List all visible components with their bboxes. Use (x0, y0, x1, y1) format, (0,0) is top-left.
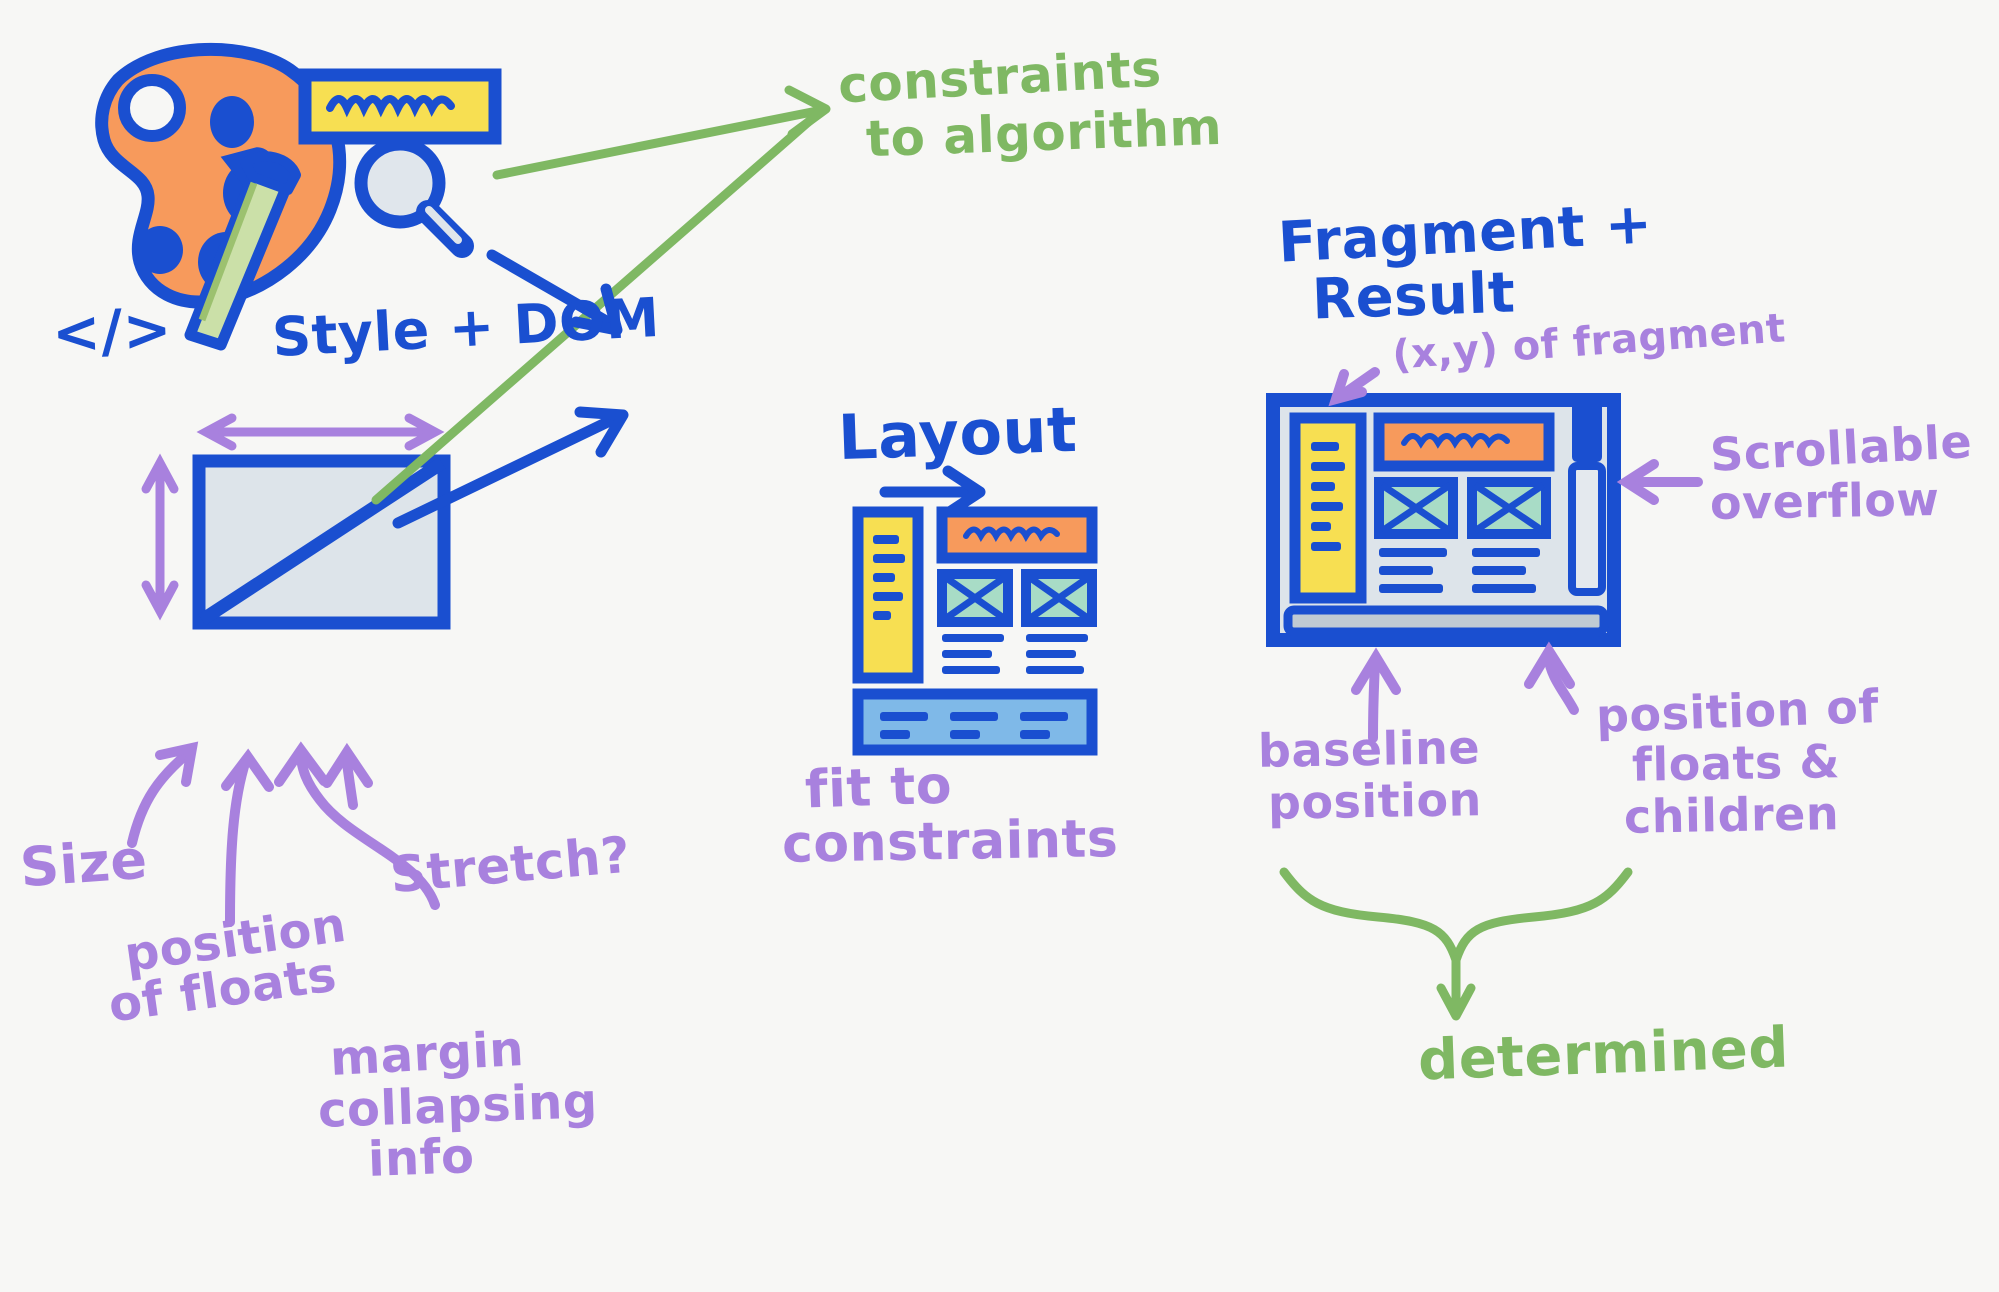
magnifying-glass-icon (361, 144, 462, 246)
floats-children-arrow (1529, 651, 1574, 710)
determined-label: determined (1417, 1020, 1790, 1090)
baseline-position-line2: position (1268, 776, 1483, 827)
fit-to-constraints-line2: constraints (782, 813, 1119, 872)
browser-mockup-result-icon (1273, 396, 1614, 640)
diagram-canvas: </> Style + DOM constraints to algorithm… (0, 0, 1999, 1292)
scrollable-overflow-line1: Scrollable (1709, 418, 1973, 479)
margin-collapsing-line1: margin (329, 1025, 525, 1084)
fit-to-constraints-line1: fit to (804, 759, 953, 817)
layout-box-icon (199, 461, 444, 623)
width-measure-arrow (206, 418, 435, 446)
code-icon-label: </> (51, 300, 173, 363)
floats-children-line2: floats & (1632, 738, 1841, 789)
height-measure-arrow (146, 463, 174, 611)
browser-mockup-layout-icon (858, 512, 1092, 750)
margin-collapsing-line3: info (367, 1132, 475, 1185)
stretch-arrow (327, 752, 368, 805)
floats-children-line1: position of (1595, 683, 1879, 740)
yellow-text-block-icon (305, 75, 495, 138)
constraints-label-line2: to algorithm (865, 102, 1223, 165)
determined-brace (1284, 872, 1628, 1016)
scrollable-overflow-line2: overflow (1710, 476, 1940, 527)
position-of-floats-arrow (226, 757, 269, 922)
scrollable-overflow-arrow (1626, 464, 1698, 500)
floats-children-line3: children (1624, 790, 1840, 841)
layout-label: Layout (837, 398, 1078, 470)
margin-collapsing-line2: collapsing (317, 1077, 598, 1136)
size-label: Size (18, 832, 149, 896)
diagram-vectors (0, 0, 1999, 1292)
fragment-result-line2: Result (1311, 264, 1516, 328)
baseline-position-line1: baseline (1258, 724, 1481, 775)
